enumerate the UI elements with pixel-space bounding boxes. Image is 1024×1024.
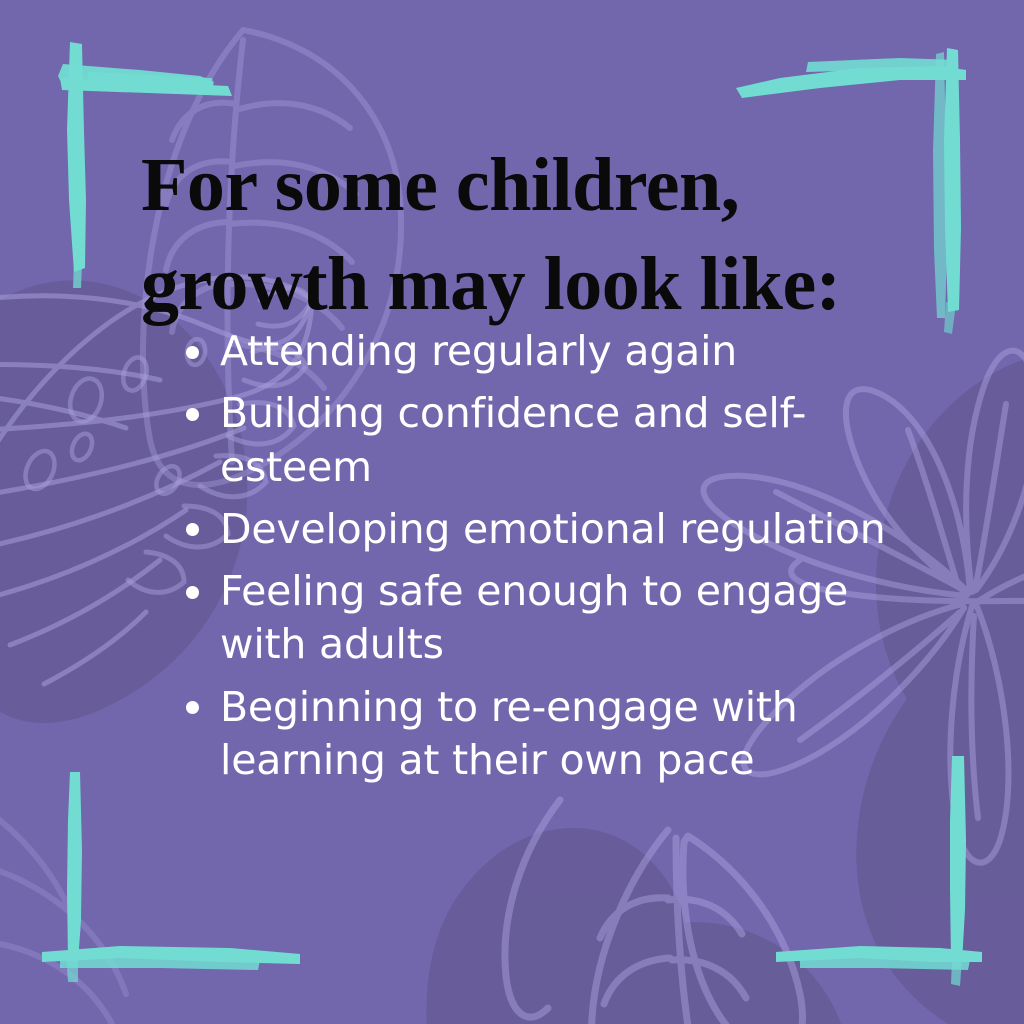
poster-content: For some children, growth may look like:… [0, 0, 1024, 1024]
list-item-label: Beginning to re-engage with learning at … [220, 681, 916, 788]
list-item: Building confidence and self-esteem [176, 387, 916, 494]
page-title-line-2: growth may look like: [141, 235, 931, 334]
list-item-label: Feeling safe enough to engage with adult… [220, 565, 916, 672]
poster-canvas: For some children, growth may look like:… [0, 0, 1024, 1024]
bullet-dot-icon [186, 523, 199, 536]
list-item: Developing emotional regulation [176, 503, 916, 556]
list-item: Beginning to re-engage with learning at … [176, 681, 916, 788]
list-item-label: Building confidence and self-esteem [220, 387, 916, 494]
growth-indicators-list: Attending regularly again Building confi… [176, 325, 916, 796]
list-item-label: Attending regularly again [220, 325, 916, 378]
bullet-dot-icon [186, 586, 199, 599]
list-item-label: Developing emotional regulation [220, 503, 916, 556]
list-item: Attending regularly again [176, 325, 916, 378]
page-title-line-1: For some children, [141, 136, 931, 235]
bullet-dot-icon [186, 701, 199, 714]
page-title: For some children, growth may look like: [141, 136, 931, 334]
bullet-dot-icon [186, 408, 199, 421]
list-item: Feeling safe enough to engage with adult… [176, 565, 916, 672]
bullet-dot-icon [186, 346, 199, 359]
